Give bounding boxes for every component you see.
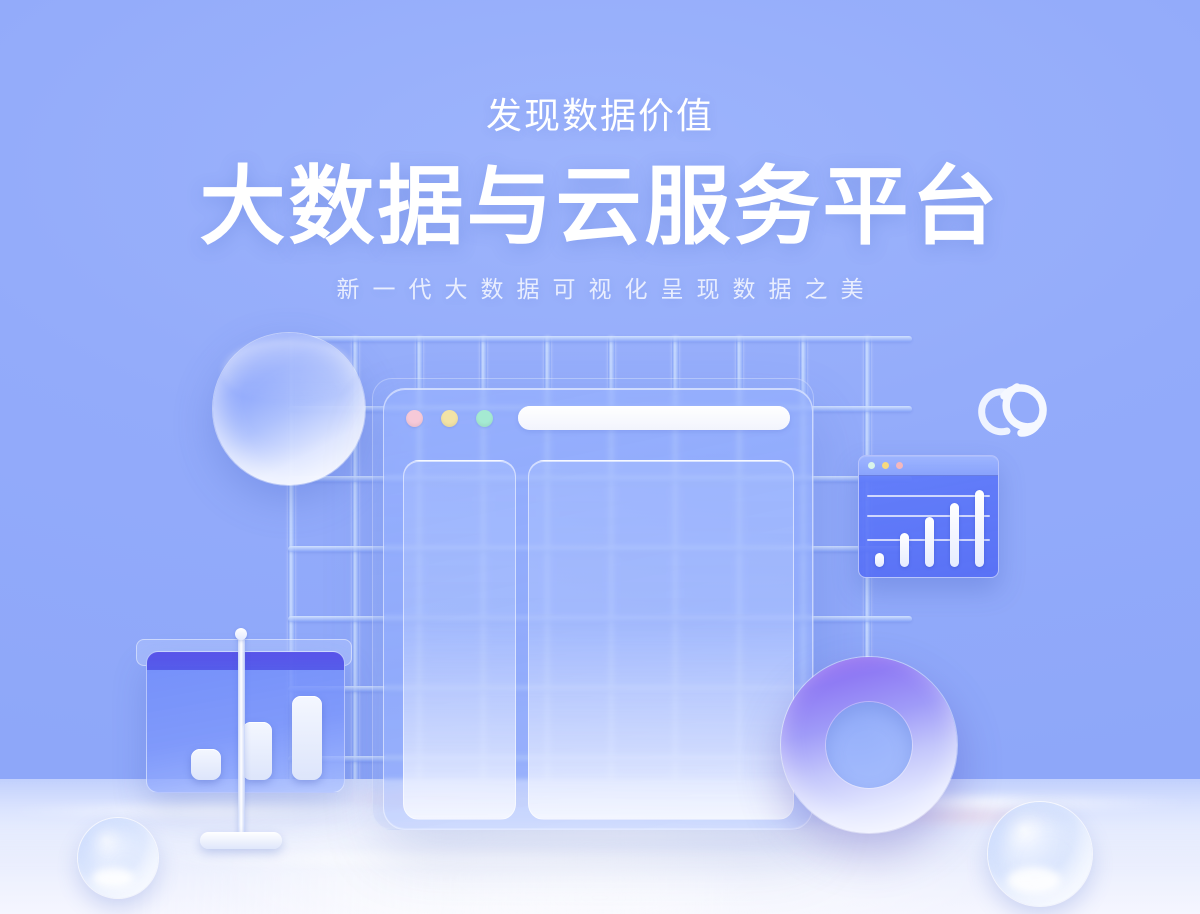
page-title: 大数据与云服务平台 [0, 164, 1200, 250]
hero-eyebrow: 发现数据价值 [0, 98, 1200, 134]
minimize-dot[interactable] [882, 462, 889, 469]
hero-text-block: 发现数据价值 大数据与云服务平台 新一代大数据可视化呈现数据之美 [0, 0, 1200, 301]
sidebar-pane[interactable] [403, 460, 516, 820]
browser-titlebar [384, 389, 812, 447]
content-pane[interactable] [528, 460, 794, 820]
traffic-light-dots [406, 410, 493, 427]
stand-pole-cap [235, 628, 247, 640]
donut-chart-ring [781, 657, 957, 833]
bar-card-bar [242, 722, 272, 780]
mini-chart-bar [975, 490, 984, 567]
maximize-dot[interactable] [896, 462, 903, 469]
glass-disc [213, 333, 365, 485]
bar-card-bar [292, 696, 322, 780]
mini-chart-bar [925, 517, 934, 567]
glass-sphere-right [988, 802, 1092, 906]
close-dot[interactable] [868, 462, 875, 469]
mini-bar-chart [859, 476, 998, 577]
mini-chart-bar [900, 533, 909, 567]
mini-chart-bar [950, 503, 959, 567]
stand-pole [238, 634, 245, 842]
mini-window-titlebar [859, 456, 998, 476]
cloud-icon [975, 365, 1061, 437]
hero-banner: 发现数据价值 大数据与云服务平台 新一代大数据可视化呈现数据之美 [0, 0, 1200, 914]
mini-chart-gridline [867, 495, 990, 497]
glass-sphere-left [78, 818, 158, 898]
maximize-dot[interactable] [476, 410, 493, 427]
mini-chart-window[interactable] [858, 455, 999, 578]
close-dot[interactable] [406, 410, 423, 427]
bar-card-bar [191, 749, 221, 780]
hero-subline: 新一代大数据可视化呈现数据之美 [0, 278, 1200, 301]
bar-card-header [147, 652, 344, 670]
minimize-dot[interactable] [441, 410, 458, 427]
donut-hole [826, 702, 912, 788]
bar-chart-card[interactable] [146, 651, 345, 793]
stand-base [200, 832, 282, 849]
browser-window[interactable] [383, 388, 813, 830]
floor-streak [0, 805, 420, 817]
mini-chart-bar [875, 553, 884, 567]
address-bar-input[interactable] [518, 406, 790, 430]
floor-streak [120, 853, 880, 865]
grid-line-horizontal [288, 336, 912, 342]
